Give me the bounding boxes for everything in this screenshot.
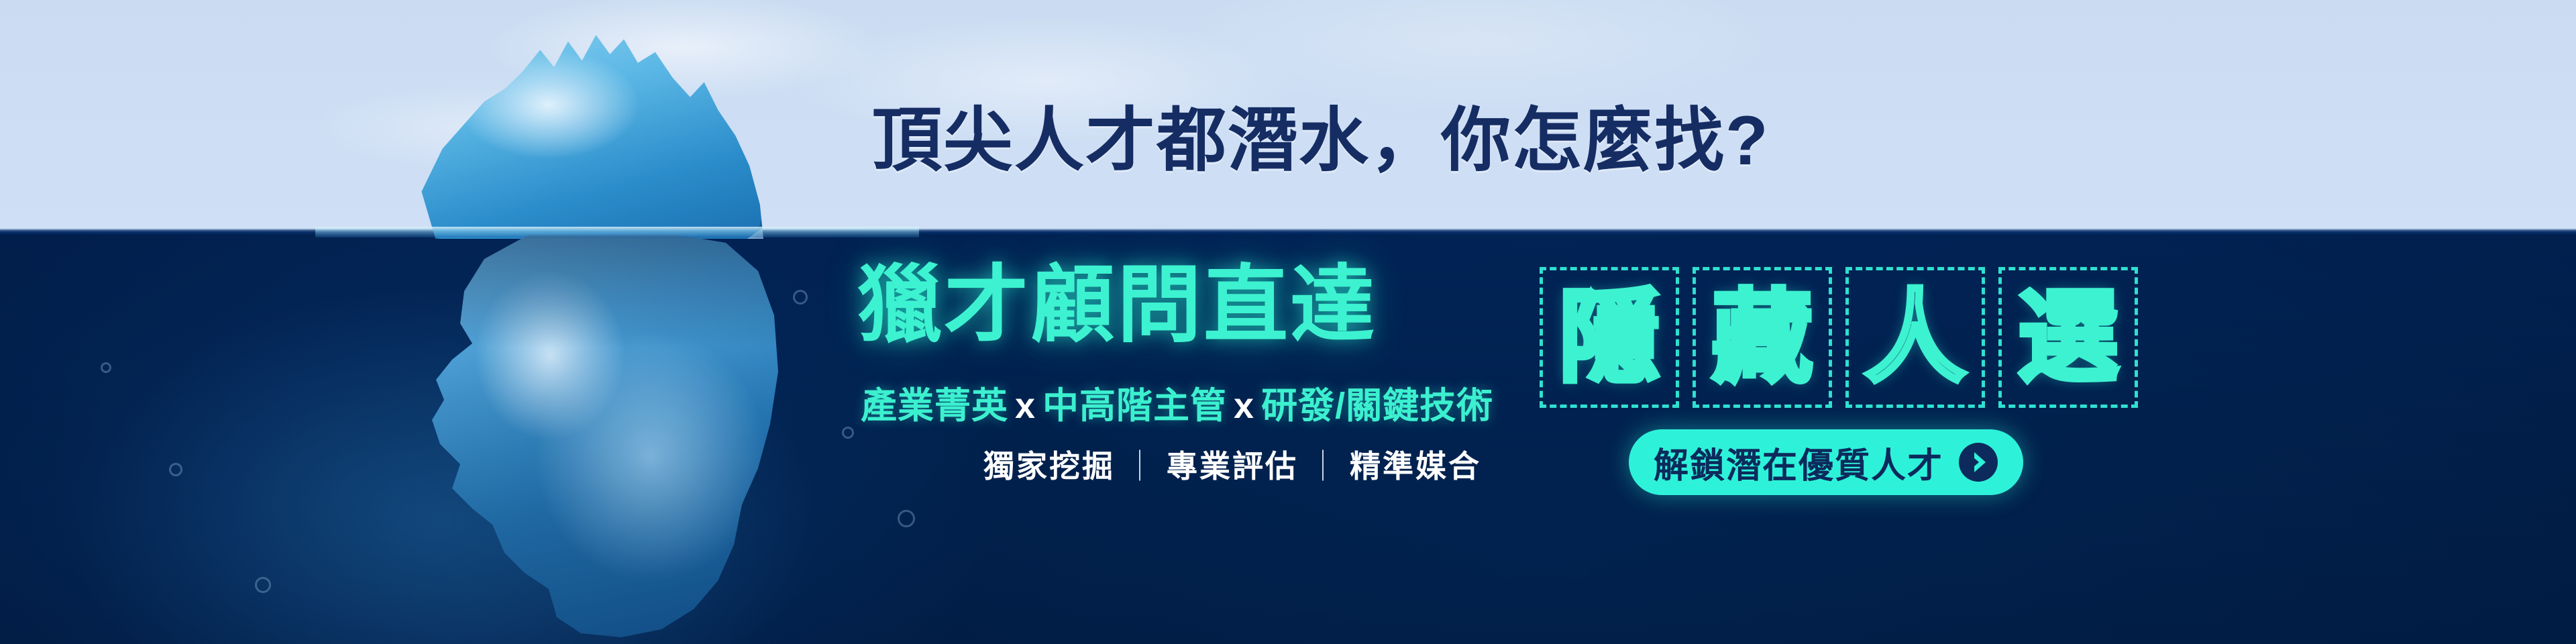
boxed-char-cell: 隱 (1540, 267, 1679, 408)
boxed-char: 隱 (1559, 287, 1660, 388)
hidden-candidates-boxes: 隱 藏 人 選 (1540, 267, 2138, 408)
boxed-char-cell: 藏 (1693, 267, 1832, 408)
bubble-icon (101, 362, 111, 373)
audience-separator: x (1008, 386, 1042, 426)
service-tagline: 獨家挖掘｜專業評估｜精準媒合 (983, 451, 1481, 482)
bubble-icon (793, 290, 808, 305)
boxed-char-cell: 選 (1998, 267, 2138, 408)
iceberg-facet-texture (415, 24, 763, 239)
boxed-char: 藏 (1712, 287, 1813, 388)
tagline-divider: ｜ (1115, 449, 1167, 484)
audience-segment-3: 研發/關鍵技術 (1261, 386, 1493, 426)
audience-segment-2: 中高階主管 (1042, 386, 1227, 426)
tagline-item-2: 專業評估 (1167, 449, 1298, 484)
ice-head-shading (396, 235, 798, 637)
page-headline: 頂尖人才都潛水，你怎麼找? (872, 106, 1770, 176)
boxed-char: 人 (1865, 287, 1966, 388)
audience-subtitle: 產業菁英x中高階主管x研發/關鍵技術 (861, 388, 1493, 424)
recruitment-banner: 頂尖人才都潛水，你怎麼找? 獵才顧問直達 隱 藏 人 選 產業菁英x中高階主管x… (0, 0, 2576, 644)
unlock-talent-cta-button[interactable]: 解鎖潛在優質人才 (1629, 429, 2023, 495)
bubble-icon (255, 577, 271, 593)
bubble-icon (842, 427, 854, 439)
audience-separator: x (1227, 386, 1261, 426)
audience-segment-1: 產業菁英 (861, 386, 1008, 426)
water-surface-line (315, 227, 919, 237)
boxed-char-cell: 人 (1845, 267, 1985, 408)
circle-chevron-right-icon (1958, 442, 1998, 482)
tagline-item-3: 精準媒合 (1350, 449, 1481, 484)
tagline-divider: ｜ (1298, 449, 1350, 484)
main-heading: 獵才顧問直達 (857, 263, 1377, 347)
cta-label: 解鎖潛在優質人才 (1654, 437, 1943, 488)
bubble-icon (169, 463, 182, 476)
iceberg-head-artwork (315, 0, 919, 644)
tagline-item-1: 獨家挖掘 (983, 449, 1115, 484)
boxed-char: 選 (2018, 287, 2118, 388)
bubble-icon (898, 510, 915, 527)
